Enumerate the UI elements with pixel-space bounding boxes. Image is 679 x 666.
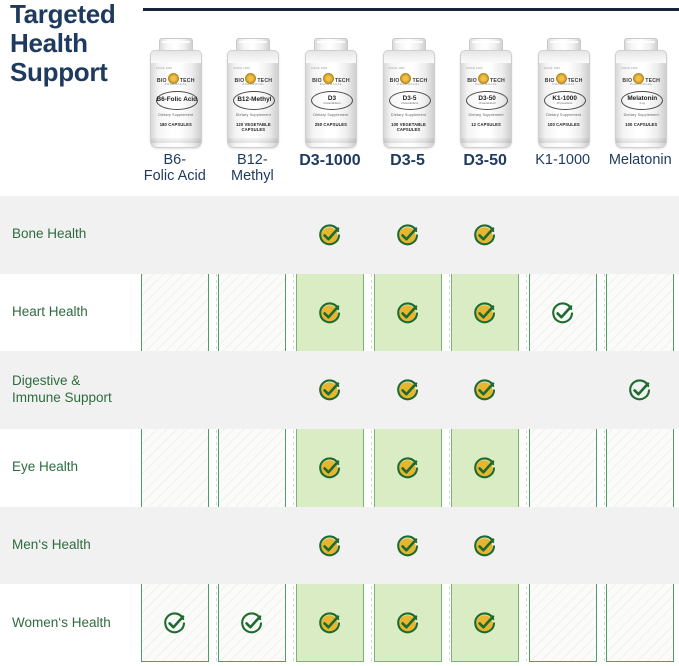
bottle-body: SINCE 1980BIOTECHPHARMACALD3-50Cholecalc… xyxy=(460,50,512,148)
bottle-base-shadow xyxy=(228,138,278,143)
check-icon-heart-health-d3-5 xyxy=(395,300,421,326)
bottle-count: 100 CAPSULES xyxy=(616,122,666,127)
row-label-digestive-immune-support: Digestive &Immune Support xyxy=(0,373,136,407)
check-column-b12-methyl xyxy=(214,196,292,662)
check-overlay xyxy=(136,196,679,662)
product-column-header-d3-1000[interactable]: SINCE 1980BIOTECHPHARMACALD3Cholecalcife… xyxy=(291,26,369,192)
header-divider xyxy=(143,8,679,11)
bottle-count: 120 VEGETABLE CAPSULES xyxy=(228,122,278,132)
bottle-count: 100 VEGETABLE CAPSULES xyxy=(384,122,434,132)
page-title-line-1: Targeted xyxy=(10,0,135,29)
product-label-line-1: D3-5 xyxy=(390,152,425,170)
bottle-product-subname: Cholecalciferol xyxy=(323,102,340,105)
bottle-image-b12-methyl: SINCE 1980BIOTECHPHARMACALB12-MethylDiet… xyxy=(223,38,281,148)
bottle-base-shadow xyxy=(461,138,511,143)
bottle-tagline: SINCE 1980 xyxy=(621,67,637,70)
check-icon-heart-health-k1-1000 xyxy=(550,300,576,326)
row-label-womens-health: Women‘s Health xyxy=(0,615,136,632)
row-label-eye-health: Eye Health xyxy=(0,459,136,476)
bottle-descriptor: Dietary Supplement xyxy=(461,113,511,117)
bottle-body: SINCE 1980BIOTECHPHARMACALD3Cholecalcife… xyxy=(305,50,357,148)
bottle-descriptor: Dietary Supplement xyxy=(539,113,589,117)
check-icon-womens-health-d3-50 xyxy=(472,610,498,636)
bottle-product-name-oval: D3Cholecalciferol xyxy=(311,91,353,110)
page-title-line-3: Support xyxy=(10,58,135,87)
check-icon-heart-health-d3-50 xyxy=(472,300,498,326)
bottle-image-k1-1000: SINCE 1980BIOTECHPHARMACALK1-1000Phytona… xyxy=(534,38,592,148)
product-column-header-k1-1000[interactable]: SINCE 1980BIOTECHPHARMACALK1-1000Phytona… xyxy=(524,26,602,192)
bottle-tagline: SINCE 1980 xyxy=(311,67,327,70)
bottle-image-b6-folic-acid: SINCE 1980BIOTECHPHARMACALB6-Folic AcidD… xyxy=(146,38,204,148)
page-title: Targeted Health Support xyxy=(10,0,135,87)
row-label-line-1: Digestive & xyxy=(12,373,80,388)
bottle-count: 100 CAPSULES xyxy=(539,122,589,127)
row-label-line-1: Women‘s Health xyxy=(12,615,111,630)
row-label-line-1: Bone Health xyxy=(12,226,86,241)
bottle-product-subname: 3 mg xyxy=(639,102,645,105)
row-label-line-1: Eye Health xyxy=(12,459,78,474)
check-icon-womens-health-d3-1000 xyxy=(317,610,343,636)
product-column-header-d3-5[interactable]: SINCE 1980BIOTECHPHARMACALD3-5Cholecalci… xyxy=(369,26,447,192)
product-label-line-1: D3-1000 xyxy=(299,152,360,170)
product-column-header-melatonin[interactable]: SINCE 1980BIOTECHPHARMACALMelatonin3 mgD… xyxy=(601,26,679,192)
row-label-mens-health: Men‘s Health xyxy=(0,537,136,554)
product-label-d3-1000: D3-1000 xyxy=(298,152,361,192)
brand-subtitle: PHARMACAL xyxy=(461,82,511,86)
bottle-product-name-oval: K1-1000Phytonadione xyxy=(544,91,586,110)
bottle-image-d3-5: SINCE 1980BIOTECHPHARMACALD3-5Cholecalci… xyxy=(379,38,437,148)
row-label-line-2: Immune Support xyxy=(12,390,112,405)
product-label-line-2: Folic Acid xyxy=(144,168,206,184)
check-column-k1-1000 xyxy=(524,196,602,662)
row-label-heart-health: Heart Health xyxy=(0,304,136,321)
bottle-product-subname: Cholecalciferol xyxy=(401,102,418,105)
check-icon-mens-health-d3-1000 xyxy=(317,533,343,559)
check-icon-mens-health-d3-50 xyxy=(472,533,498,559)
row-label-line-1: Heart Health xyxy=(12,304,88,319)
product-label-melatonin: Melatonin xyxy=(608,152,673,192)
product-label-k1-1000: K1-1000 xyxy=(534,152,591,192)
bottle-tagline: SINCE 1980 xyxy=(233,67,249,70)
brand-subtitle: PHARMACAL xyxy=(306,82,356,86)
bottle-descriptor: Dietary Supplement xyxy=(151,113,201,117)
bottle-base-shadow xyxy=(616,138,666,143)
bottle-image-d3-50: SINCE 1980BIOTECHPHARMACALD3-50Cholecalc… xyxy=(456,38,514,148)
bottle-count: 250 CAPSULES xyxy=(306,122,356,127)
bottle-descriptor: Dietary Supplement xyxy=(228,113,278,117)
bottle-product-name-oval: Melatonin3 mg xyxy=(621,91,663,110)
bottle-shoulder xyxy=(384,51,434,63)
bottle-descriptor: Dietary Supplement xyxy=(306,113,356,117)
bottle-product-name-oval: D3-5Cholecalciferol xyxy=(389,91,431,110)
bottle-tagline: SINCE 1980 xyxy=(389,67,405,70)
check-column-d3-1000 xyxy=(291,196,369,662)
bottle-shoulder xyxy=(461,51,511,63)
product-label-b6-folic-acid: B6-Folic Acid xyxy=(143,152,207,192)
check-column-b6-folic-acid xyxy=(136,196,214,662)
bottle-tagline: SINCE 1980 xyxy=(156,67,172,70)
check-icon-womens-health-d3-5 xyxy=(395,610,421,636)
bottle-shoulder xyxy=(151,51,201,63)
bottle-product-name-oval: B6-Folic Acid xyxy=(156,91,198,110)
bottle-base-shadow xyxy=(384,138,434,143)
bottle-count: 180 CAPSULES xyxy=(151,122,201,127)
check-icon-eye-health-d3-1000 xyxy=(317,455,343,481)
check-icon-digestive-immune-support-d3-50 xyxy=(472,377,498,403)
check-icon-digestive-immune-support-d3-5 xyxy=(395,377,421,403)
bottle-body: SINCE 1980BIOTECHPHARMACALMelatonin3 mgD… xyxy=(615,50,667,148)
check-column-d3-5 xyxy=(369,196,447,662)
product-column-header-b12-methyl[interactable]: SINCE 1980BIOTECHPHARMACALB12-MethylDiet… xyxy=(214,26,292,192)
product-label-line-1: B6- xyxy=(144,152,206,168)
check-column-melatonin xyxy=(601,196,679,662)
bottle-shoulder xyxy=(616,51,666,63)
bottle-product-subname: Phytonadione xyxy=(557,102,573,105)
bottle-tagline: SINCE 1980 xyxy=(466,67,482,70)
product-label-line-1: D3-50 xyxy=(463,152,507,170)
bottle-base-shadow xyxy=(151,138,201,143)
product-label-d3-50: D3-50 xyxy=(462,152,508,192)
check-icon-bone-health-d3-1000 xyxy=(317,222,343,248)
check-icon-mens-health-d3-5 xyxy=(395,533,421,559)
row-label-line-1: Men‘s Health xyxy=(12,537,91,552)
check-icon-eye-health-d3-5 xyxy=(395,455,421,481)
product-label-d3-5: D3-5 xyxy=(389,152,426,192)
check-icon-digestive-immune-support-d3-1000 xyxy=(317,377,343,403)
bottle-count: 12 CAPSULES xyxy=(461,122,511,127)
bottle-product-name: B6-Folic Acid xyxy=(156,97,197,103)
product-label-line-1: B12- xyxy=(231,152,274,168)
bottle-base-shadow xyxy=(539,138,589,143)
bottle-shoulder xyxy=(228,51,278,63)
product-label-b12-methyl: B12-Methyl xyxy=(230,152,275,192)
bottle-body: SINCE 1980BIOTECHPHARMACALK1-1000Phytona… xyxy=(538,50,590,148)
check-icon-bone-health-d3-5 xyxy=(395,222,421,248)
brand-subtitle: PHARMACAL xyxy=(539,82,589,86)
check-icon-digestive-immune-support-melatonin xyxy=(627,377,653,403)
brand-subtitle: PHARMACAL xyxy=(384,82,434,86)
product-label-line-1: K1-1000 xyxy=(535,152,590,168)
bottle-product-name-oval: B12-Methyl xyxy=(233,91,275,110)
brand-subtitle: PHARMACAL xyxy=(151,82,201,86)
bottle-image-melatonin: SINCE 1980BIOTECHPHARMACALMelatonin3 mgD… xyxy=(611,38,669,148)
brand-subtitle: PHARMACAL xyxy=(228,82,278,86)
check-icon-womens-health-b12-methyl xyxy=(239,610,265,636)
check-icon-womens-health-b6-folic-acid xyxy=(162,610,188,636)
bottle-shoulder xyxy=(306,51,356,63)
bottle-body: SINCE 1980BIOTECHPHARMACALD3-5Cholecalci… xyxy=(383,50,435,148)
bottle-image-d3-1000: SINCE 1980BIOTECHPHARMACALD3Cholecalcife… xyxy=(301,38,359,148)
bottle-product-name-oval: D3-50Cholecalciferol xyxy=(466,91,508,110)
bottle-product-subname: Cholecalciferol xyxy=(479,102,496,105)
check-icon-eye-health-d3-50 xyxy=(472,455,498,481)
bottle-base-shadow xyxy=(306,138,356,143)
bottle-descriptor: Dietary Supplement xyxy=(616,113,666,117)
product-label-line-1: Melatonin xyxy=(609,152,672,168)
bottle-tagline: SINCE 1980 xyxy=(544,67,560,70)
bottle-body: SINCE 1980BIOTECHPHARMACALB12-MethylDiet… xyxy=(227,50,279,148)
product-column-header-b6-folic-acid[interactable]: SINCE 1980BIOTECHPHARMACALB6-Folic AcidD… xyxy=(136,26,214,192)
check-icon-bone-health-d3-50 xyxy=(472,222,498,248)
product-header-row: SINCE 1980BIOTECHPHARMACALB6-Folic AcidD… xyxy=(136,26,679,192)
brand-subtitle: PHARMACAL xyxy=(616,82,666,86)
bottle-shoulder xyxy=(539,51,589,63)
check-icon-heart-health-d3-1000 xyxy=(317,300,343,326)
product-column-header-d3-50[interactable]: SINCE 1980BIOTECHPHARMACALD3-50Cholecalc… xyxy=(446,26,524,192)
bottle-body: SINCE 1980BIOTECHPHARMACALB6-Folic AcidD… xyxy=(150,50,202,148)
bottle-product-name: B12-Methyl xyxy=(237,97,271,103)
product-label-line-2: Methyl xyxy=(231,168,274,184)
row-label-bone-health: Bone Health xyxy=(0,226,136,243)
bottle-descriptor: Dietary Supplement xyxy=(384,113,434,117)
check-column-d3-50 xyxy=(446,196,524,662)
page-title-line-2: Health xyxy=(10,29,135,58)
